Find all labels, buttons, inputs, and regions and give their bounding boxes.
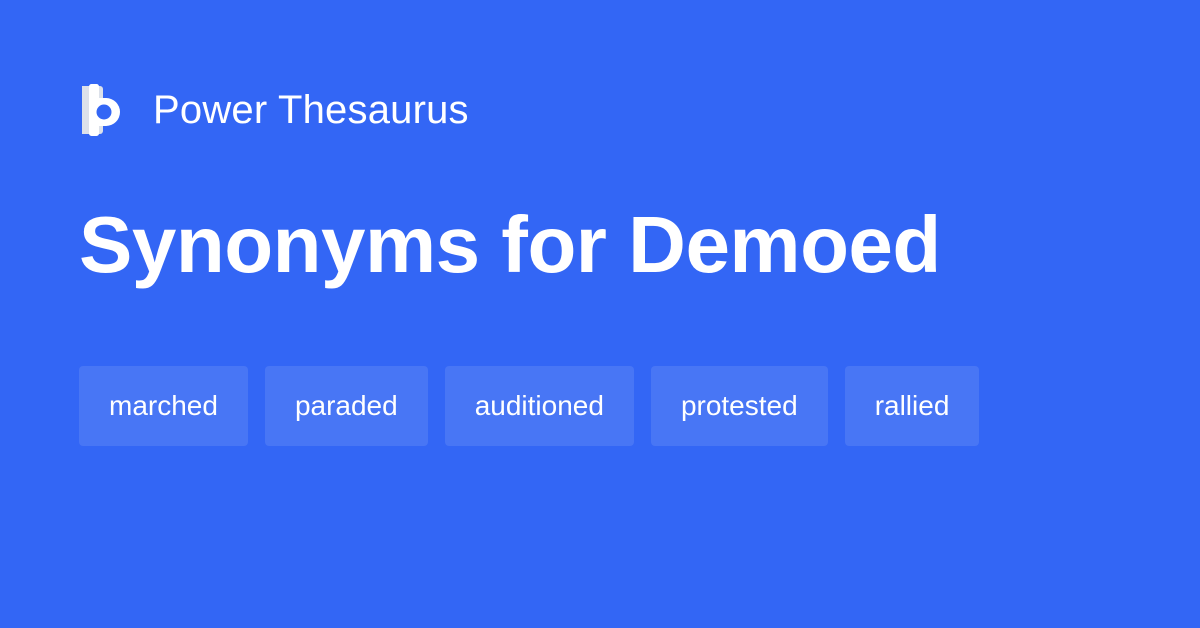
synonym-chip[interactable]: paraded	[265, 366, 428, 446]
synonym-chip[interactable]: marched	[79, 366, 248, 446]
synonym-chip-list: marched paraded auditioned protested ral…	[79, 366, 1089, 446]
synonym-chip[interactable]: auditioned	[445, 366, 634, 446]
power-thesaurus-b-logo-icon	[79, 83, 126, 137]
page-title: Synonyms for Demoed	[79, 197, 941, 293]
synonym-chip[interactable]: rallied	[845, 366, 980, 446]
brand-header[interactable]: Power Thesaurus	[79, 80, 469, 140]
synonyms-share-card: Power Thesaurus Synonyms for Demoed marc…	[0, 0, 1200, 628]
brand-name: Power Thesaurus	[153, 90, 469, 130]
synonym-chip[interactable]: protested	[651, 366, 828, 446]
